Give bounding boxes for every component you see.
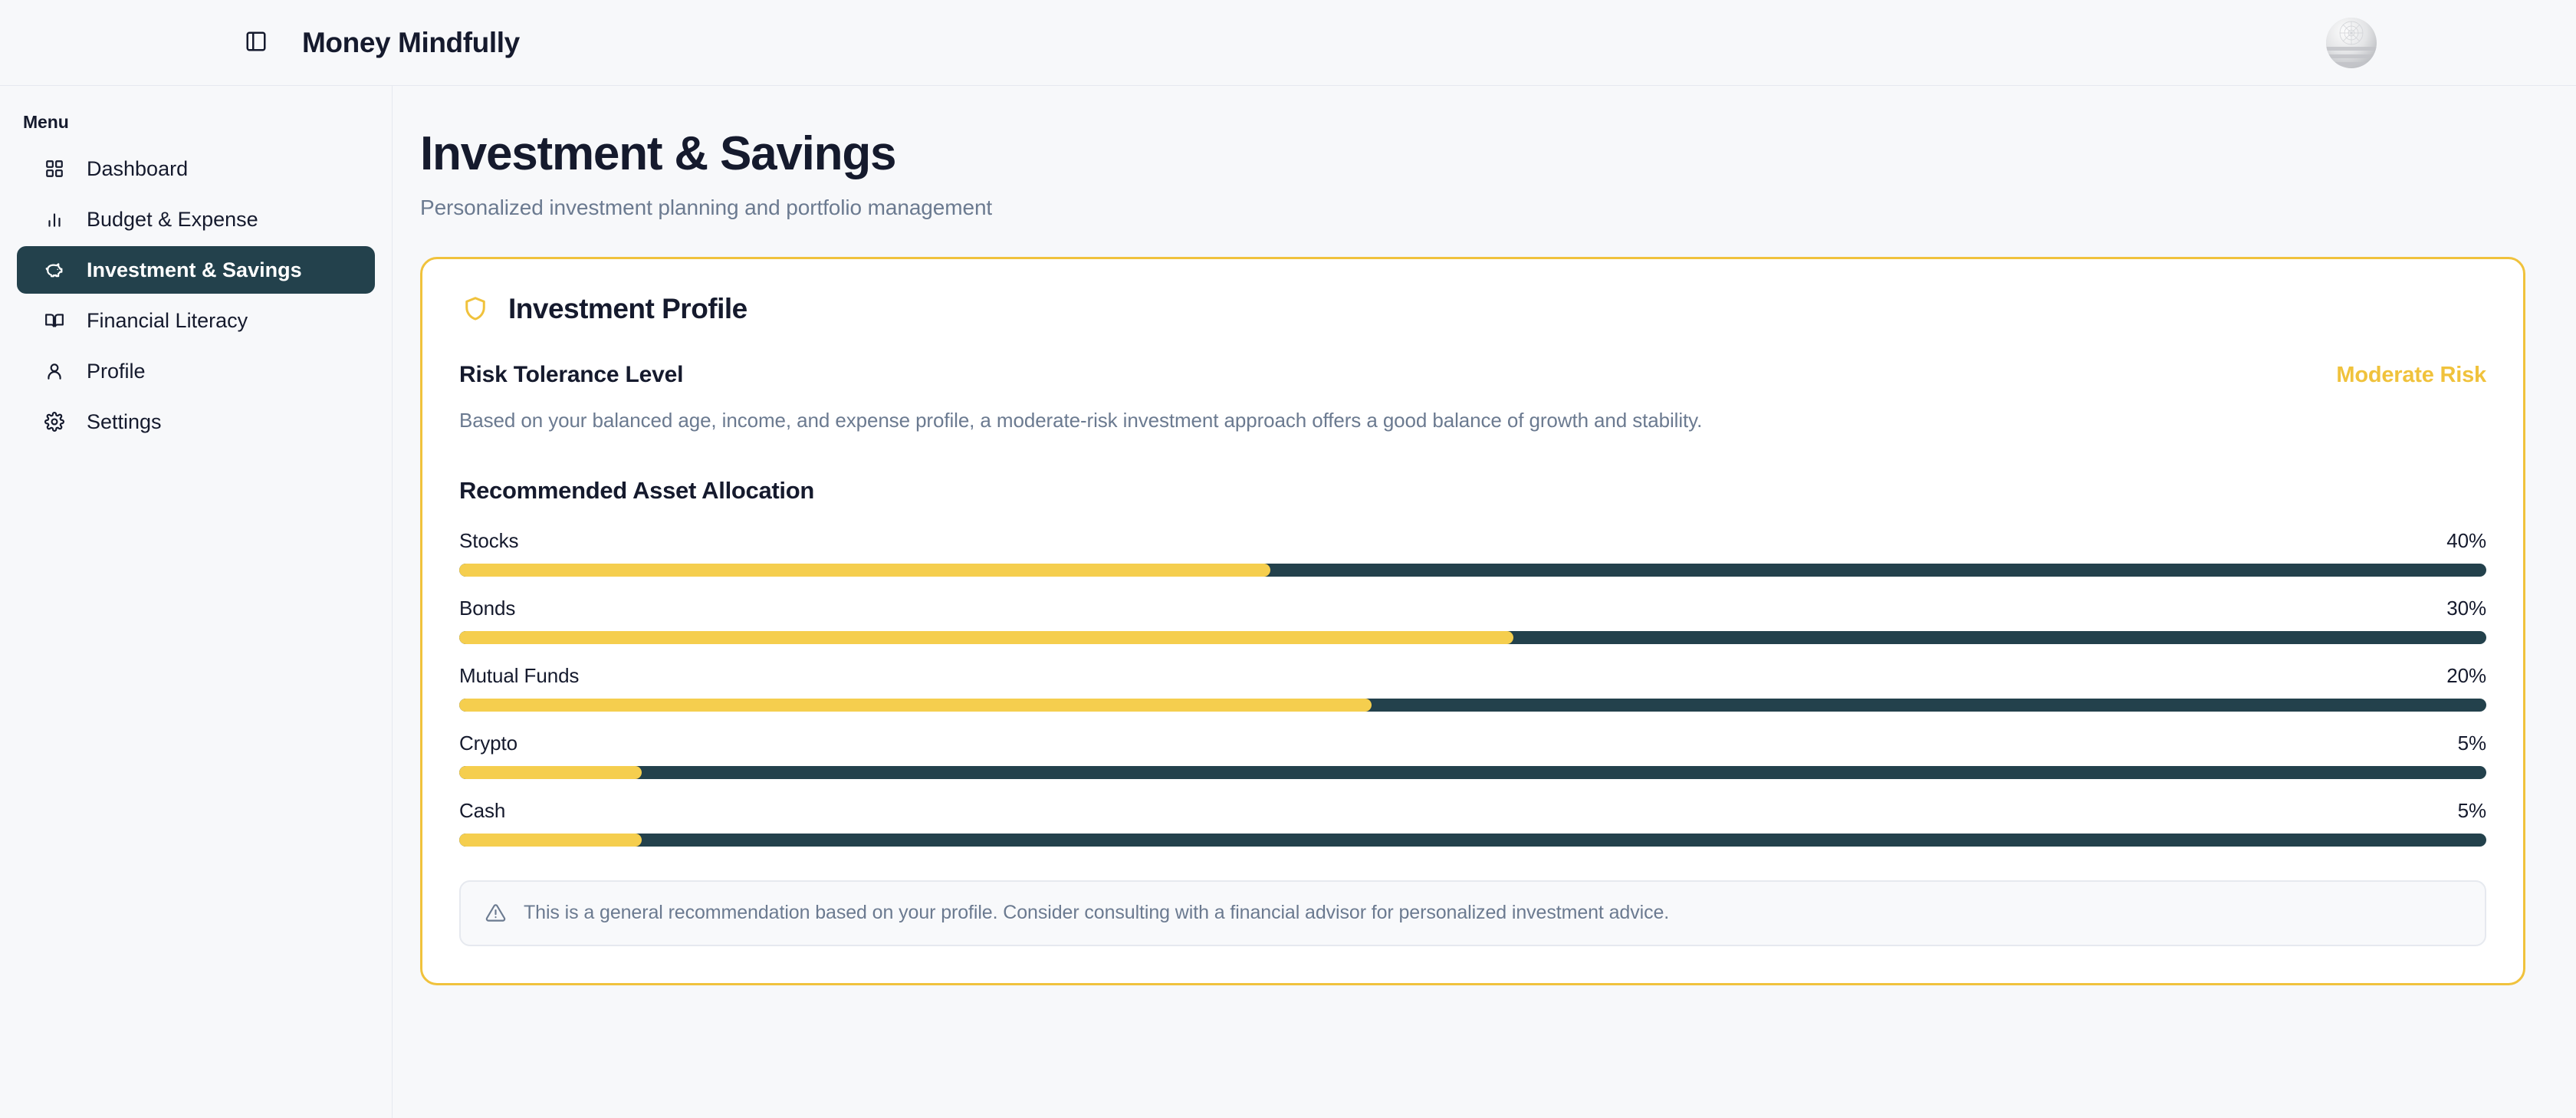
allocation-bar-fill xyxy=(459,834,642,847)
allocation-row: Bonds 30% xyxy=(459,597,2486,644)
sidebar-item-profile[interactable]: Profile xyxy=(17,347,375,395)
sidebar-item-dashboard[interactable]: Dashboard xyxy=(17,145,375,192)
investment-profile-card: Investment Profile Risk Tolerance Level … xyxy=(420,257,2525,985)
risk-tolerance-row: Risk Tolerance Level Moderate Risk xyxy=(459,362,2486,388)
page-title: Investment & Savings xyxy=(420,129,2525,179)
allocation-row: Crypto 5% xyxy=(459,732,2486,779)
sidebar-toggle-icon xyxy=(245,30,268,55)
allocation-bar-track xyxy=(459,564,2486,577)
asset-name: Cash xyxy=(459,799,505,823)
sidebar-item-settings[interactable]: Settings xyxy=(17,398,375,446)
allocation-bar-fill xyxy=(459,766,642,779)
card-title: Investment Profile xyxy=(508,293,747,325)
asset-percent: 5% xyxy=(2458,732,2486,755)
card-header: Investment Profile xyxy=(459,293,2486,325)
allocation-row: Stocks 40% xyxy=(459,529,2486,577)
app-brand-title: Money Mindfully xyxy=(302,27,520,59)
disclaimer-note: This is a general recommendation based o… xyxy=(459,880,2486,946)
gear-icon xyxy=(41,409,67,435)
asset-name: Bonds xyxy=(459,597,515,620)
sidebar-item-label: Settings xyxy=(87,410,162,434)
warning-triangle-icon xyxy=(484,902,507,925)
asset-name: Mutual Funds xyxy=(459,664,579,688)
shield-icon xyxy=(459,293,491,325)
asset-name: Crypto xyxy=(459,732,517,755)
sidebar-item-budget-expense[interactable]: Budget & Expense xyxy=(17,196,375,243)
sidebar-nav: Dashboard Budget & Expense xyxy=(0,145,392,446)
allocation-bar-track xyxy=(459,766,2486,779)
sidebar-item-financial-literacy[interactable]: Financial Literacy xyxy=(17,297,375,344)
sidebar-item-label: Profile xyxy=(87,360,146,383)
avatar-image xyxy=(2326,18,2377,68)
asset-name: Stocks xyxy=(459,529,518,553)
risk-level-badge: Moderate Risk xyxy=(2336,363,2486,388)
allocation-bar-track xyxy=(459,834,2486,847)
avatar[interactable] xyxy=(2326,18,2377,68)
user-icon xyxy=(41,359,67,384)
top-bar: Money Mindfully xyxy=(0,0,2576,86)
bar-chart-icon xyxy=(41,207,67,232)
allocation-bar-track xyxy=(459,699,2486,712)
main-content: Investment & Savings Personalized invest… xyxy=(393,86,2576,1118)
book-open-icon xyxy=(41,308,67,334)
sidebar-item-label: Financial Literacy xyxy=(87,309,248,333)
risk-description: Based on your balanced age, income, and … xyxy=(459,406,2486,436)
sidebar: Menu Dashboard xyxy=(0,86,393,1118)
asset-percent: 20% xyxy=(2446,664,2486,688)
asset-allocation-list: Stocks 40% Bonds 30% xyxy=(459,529,2486,847)
allocation-bar-track xyxy=(459,631,2486,644)
disclaimer-text: This is a general recommendation based o… xyxy=(524,902,1669,924)
allocation-bar-fill xyxy=(459,631,1513,644)
allocation-bar-fill xyxy=(459,564,1270,577)
piggy-bank-icon xyxy=(41,258,67,283)
allocation-row: Cash 5% xyxy=(459,799,2486,847)
allocation-bar-fill xyxy=(459,699,1372,712)
allocation-section-title: Recommended Asset Allocation xyxy=(459,477,2486,505)
asset-percent: 30% xyxy=(2446,597,2486,620)
sidebar-item-investment-savings[interactable]: Investment & Savings xyxy=(17,246,375,294)
page-subtitle: Personalized investment planning and por… xyxy=(420,196,2525,220)
sidebar-toggle-button[interactable] xyxy=(241,28,271,58)
risk-tolerance-label: Risk Tolerance Level xyxy=(459,362,683,388)
grid-icon xyxy=(41,156,67,182)
asset-percent: 5% xyxy=(2458,799,2486,823)
sidebar-item-label: Budget & Expense xyxy=(87,208,258,232)
sidebar-item-label: Investment & Savings xyxy=(87,258,302,282)
sidebar-item-label: Dashboard xyxy=(87,157,188,181)
sidebar-section-label: Menu xyxy=(0,112,392,145)
asset-percent: 40% xyxy=(2446,529,2486,553)
allocation-row: Mutual Funds 20% xyxy=(459,664,2486,712)
app-shell: Menu Dashboard xyxy=(0,86,2576,1118)
